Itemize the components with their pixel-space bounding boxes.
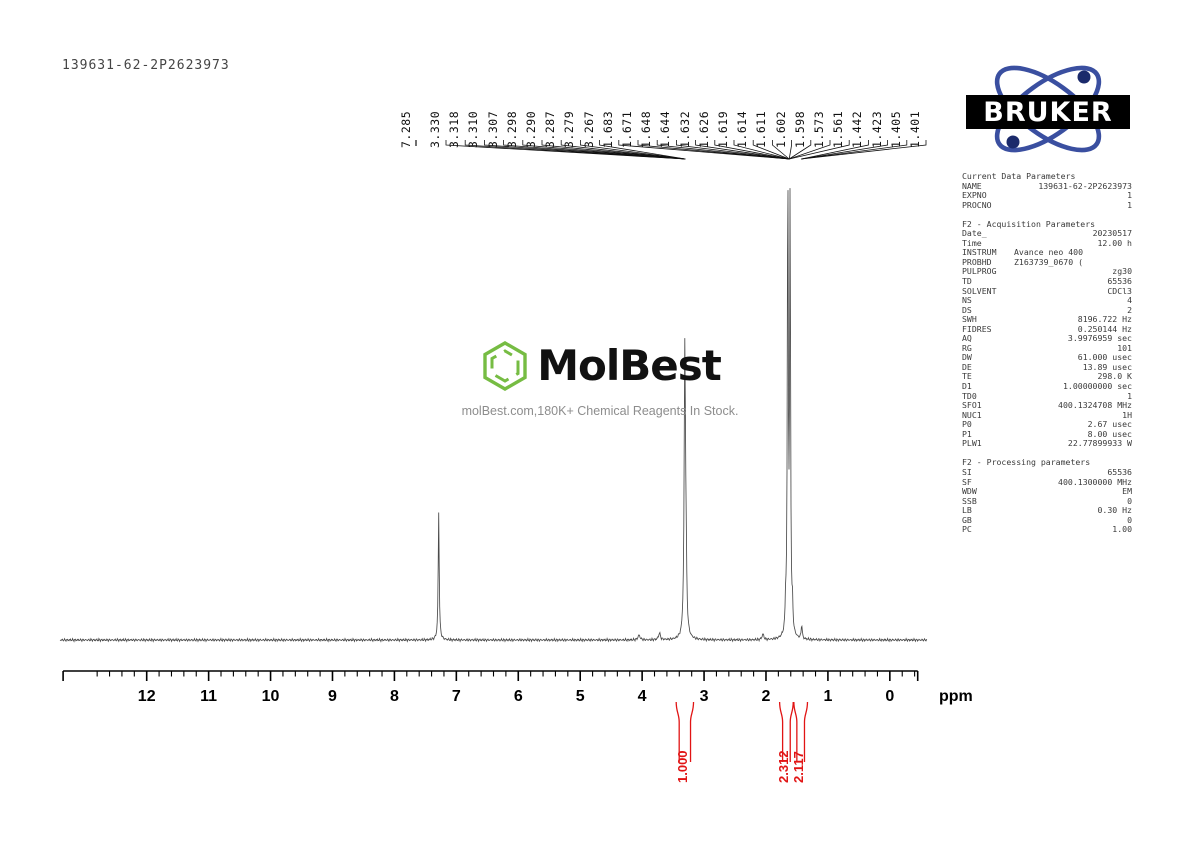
parameter-row: PC1.00 [962, 525, 1132, 535]
parameter-row: SFO1400.1324708 MHz [962, 401, 1132, 411]
parameter-value: 1.00 [1014, 525, 1132, 535]
parameter-row: WDWEM [962, 487, 1132, 497]
parameter-row: LB0.30 Hz [962, 506, 1132, 516]
parameter-value: 1 [1014, 191, 1132, 201]
integral-bracket [691, 702, 694, 762]
parameter-row: PLW122.77899933 W [962, 439, 1132, 449]
parameter-value: EM [1014, 487, 1132, 497]
parameter-key: PC [962, 525, 1014, 535]
bruker-wordmark: BRUKER [966, 95, 1130, 129]
sample-title: 139631-62-2P2623973 [62, 58, 230, 73]
parameter-row: NAME139631-62-2P2623973 [962, 182, 1132, 192]
parameter-key: PROCNO [962, 201, 1014, 211]
integral-value: 2.312 [776, 750, 791, 783]
parameter-value: 3.9976959 sec [1014, 334, 1132, 344]
watermark-brand: MolBest [537, 345, 721, 387]
parameter-value: 1.00000000 sec [1014, 382, 1132, 392]
parameter-value: 139631-62-2P2623973 [1014, 182, 1132, 192]
parameter-panel: Current Data ParametersNAME139631-62-2P2… [962, 172, 1132, 535]
parameter-value: 4 [1014, 296, 1132, 306]
parameter-row: D11.00000000 sec [962, 382, 1132, 392]
integral-area: 1.0002.3122.117 [55, 700, 935, 790]
parameter-value: CDCl3 [1014, 287, 1132, 297]
parameter-key: PLW1 [962, 439, 1014, 449]
bruker-logo: BRUKER [958, 55, 1138, 163]
molbest-watermark: MolBest molBest.com,180K+ Chemical Reage… [450, 340, 750, 418]
hexagon-icon [479, 340, 531, 392]
parameter-value: 1 [1014, 201, 1132, 211]
axis-unit-label: ppm [939, 688, 973, 706]
parameter-value: 400.1300000 MHz [1014, 478, 1132, 488]
parameter-row: GB0 [962, 516, 1132, 526]
parameter-row: SOLVENTCDCl3 [962, 287, 1132, 297]
parameter-row: AQ3.9976959 sec [962, 334, 1132, 344]
integral-value: 1.000 [675, 750, 690, 783]
integral-value: 2.117 [791, 751, 806, 783]
parameter-row: SF400.1300000 MHz [962, 478, 1132, 488]
parameter-row: PROCNO1 [962, 201, 1132, 211]
parameter-row: NS4 [962, 296, 1132, 306]
parameter-value: 22.77899933 W [1014, 439, 1132, 449]
watermark-tagline: molBest.com,180K+ Chemical Reagents In S… [450, 404, 750, 418]
peak-label-list: 7.2853.3303.3183.3103.3073.2983.2903.287… [400, 52, 940, 148]
parameter-value: 0.30 Hz [1014, 506, 1132, 516]
axis-ticks [55, 668, 935, 690]
parameter-value: 400.1324708 MHz [1014, 401, 1132, 411]
